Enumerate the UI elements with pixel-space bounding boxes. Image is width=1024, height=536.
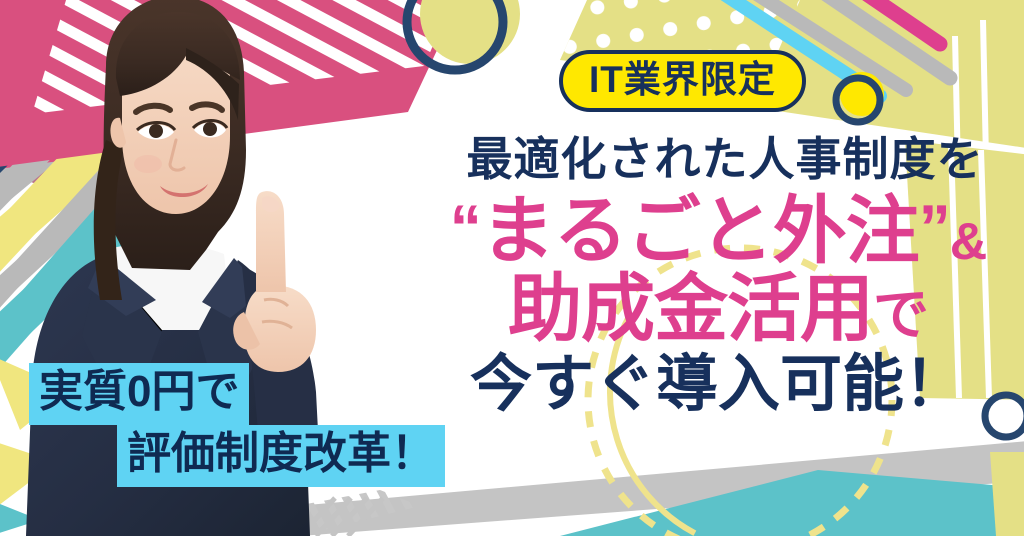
headline-block: 最適化された人事制度を “まるごと外注”& 助成金活用で 今すぐ導入可能！ bbox=[420, 136, 1016, 416]
open-quote: “ bbox=[450, 192, 481, 264]
headline-line-4: 今すぐ導入可能！ bbox=[420, 354, 1016, 416]
banner-canvas: IT業界限定 最適化された人事制度を “まるごと外注”& 助成金活用で 今すぐ導… bbox=[0, 0, 1024, 536]
headline-line-3-main: 助成金活用 bbox=[508, 267, 873, 350]
headline-line-1: 最適化された人事制度を bbox=[434, 136, 1016, 182]
highlight-line-1: 実質0円で bbox=[29, 363, 249, 425]
highlight-line-2: 評価制度改革！ bbox=[117, 425, 445, 487]
hand-palm bbox=[244, 285, 316, 372]
pupil-left bbox=[149, 124, 163, 138]
headline-line-3: 助成金活用で bbox=[420, 272, 1016, 346]
it-industry-badge: IT業界限定 bbox=[559, 50, 806, 112]
headline-line-2-main: まるごと外注 bbox=[481, 189, 919, 272]
headline-line-3-tail: で bbox=[873, 283, 928, 346]
ampersand: & bbox=[950, 213, 987, 271]
cheek-blush bbox=[134, 155, 162, 173]
headline-line-2: “まるごと外注”& bbox=[420, 194, 1016, 268]
pupil-right bbox=[203, 122, 217, 136]
close-quote: ” bbox=[919, 192, 950, 264]
